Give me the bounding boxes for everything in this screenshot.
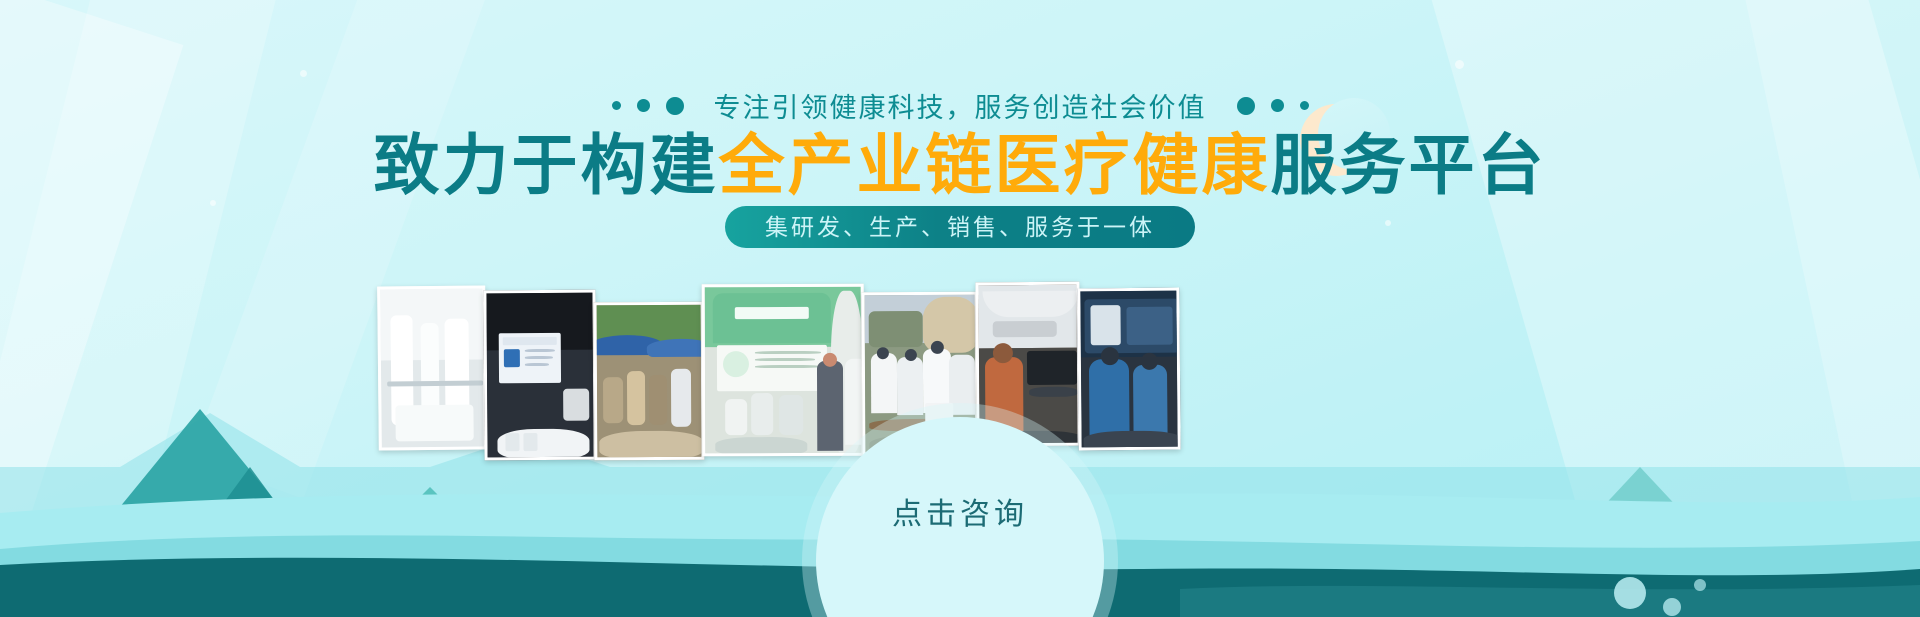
banner-content: 专注引领健康科技，服务创造社会价值 致力于构建全产业链医疗健康服务平台 集研发、… — [0, 0, 1920, 617]
headline-segment-2: 全产业链医疗健康 — [719, 128, 1271, 202]
dot-small-icon — [612, 101, 621, 110]
hero-banner: 专注引领健康科技，服务创造社会价值 致力于构建全产业链医疗健康服务平台 集研发、… — [0, 0, 1920, 617]
headline-segment-3: 服务平台 — [1271, 128, 1547, 202]
dot-medium-icon — [1271, 99, 1284, 112]
photo-lab-staff-blue-uniform[interactable] — [1077, 288, 1180, 451]
subtitle-pill: 集研发、生产、销售、服务于一体 — [725, 206, 1195, 248]
dot-large-icon — [666, 97, 684, 115]
photo-health-screening-monitor[interactable] — [483, 290, 596, 461]
dot-large-icon — [1237, 97, 1255, 115]
tagline-dots-left — [612, 97, 684, 115]
photo-strip — [378, 280, 1192, 460]
consult-button-label: 点击咨询 — [816, 489, 1104, 533]
tagline-dots-right — [1237, 97, 1309, 115]
tagline-text: 专注引领健康科技，服务创造社会价值 — [700, 86, 1221, 125]
photo-health-cabin-booth[interactable] — [702, 284, 865, 457]
headline-segment-1: 致力于构建 — [374, 128, 719, 202]
dot-small-icon — [1300, 101, 1309, 110]
photo-medical-equipment-factory[interactable] — [377, 285, 487, 450]
page-title: 致力于构建全产业链医疗健康服务平台 — [0, 124, 1920, 207]
photo-outdoor-health-checkup-tent[interactable] — [594, 302, 705, 461]
dot-medium-icon — [637, 99, 650, 112]
tagline-row: 专注引领健康科技，服务创造社会价值 — [0, 86, 1920, 125]
